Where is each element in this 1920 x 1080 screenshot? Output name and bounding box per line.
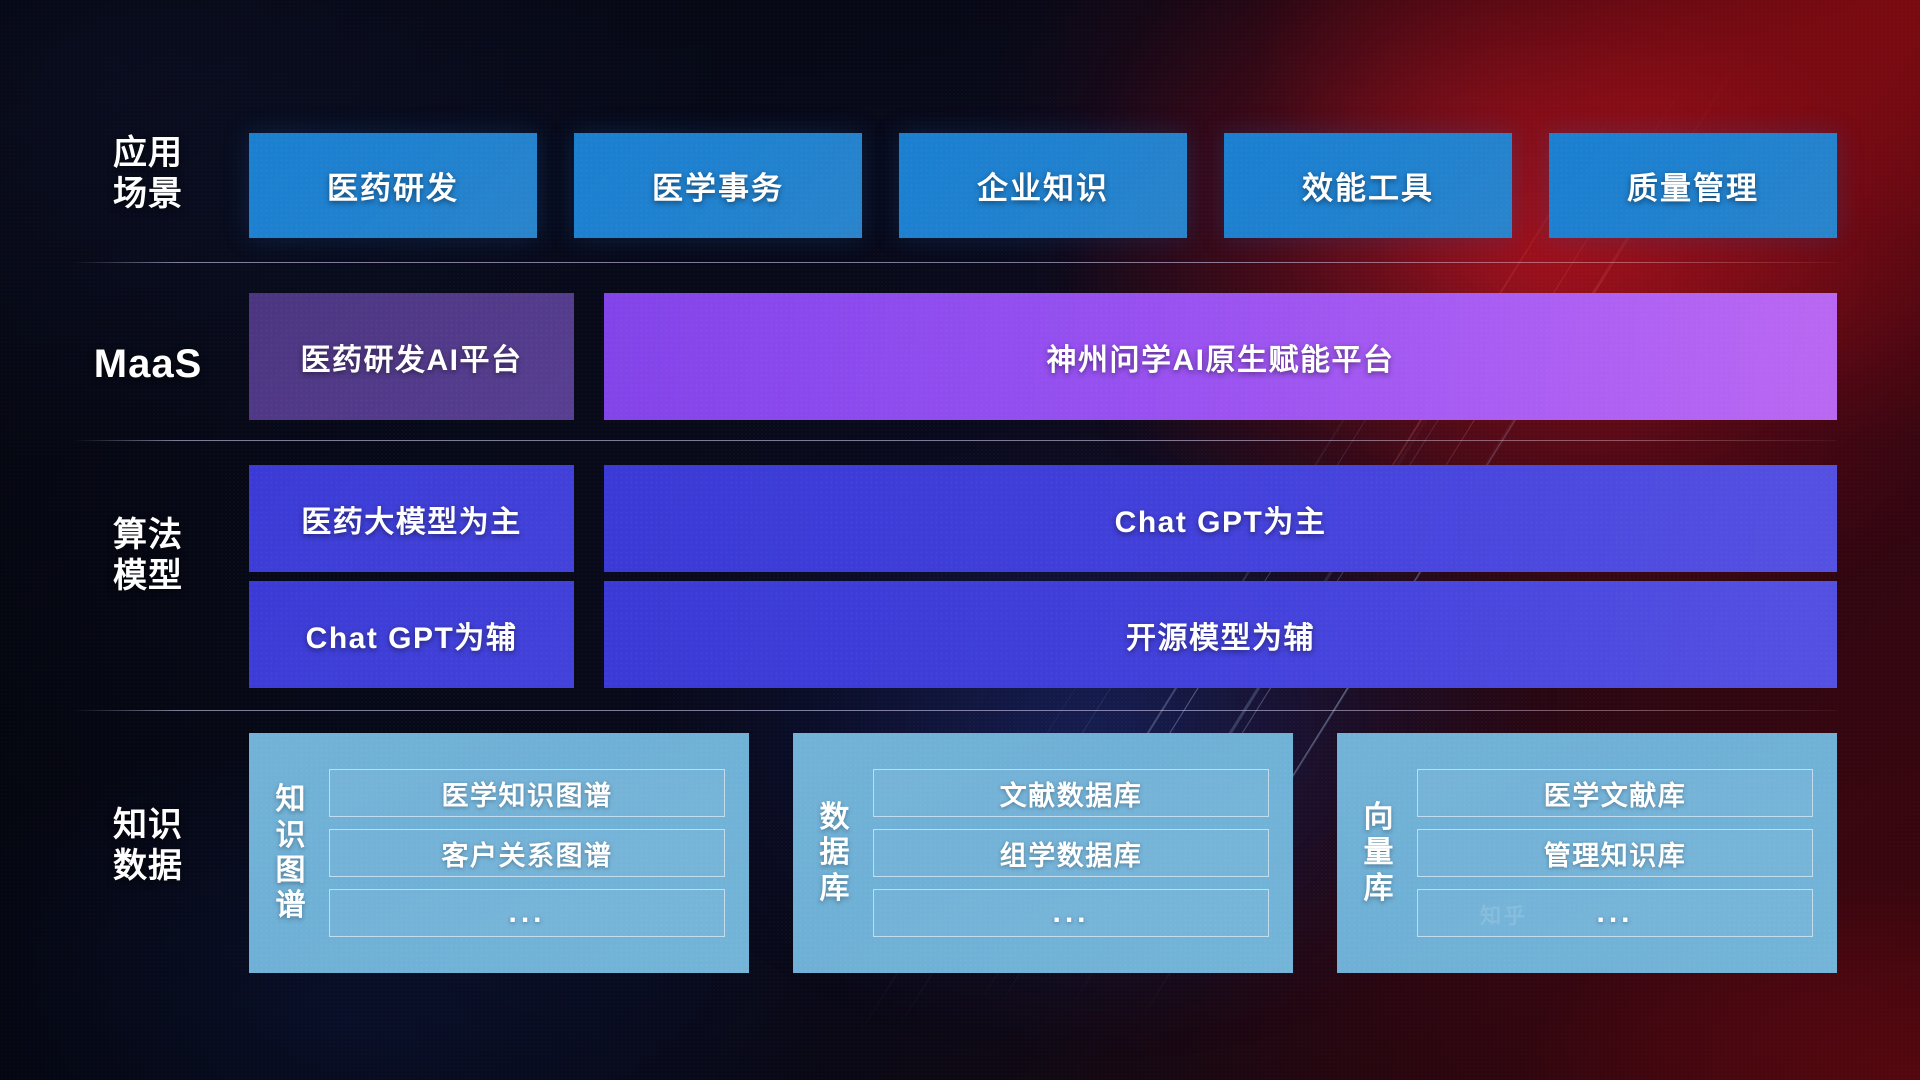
algorithm-box-chatgpt-primary[interactable]: Chat GPT为主 (604, 465, 1837, 572)
app-scenario-box-5[interactable]: 质量管理 (1549, 133, 1837, 238)
knowledge-panel-items-vector-store: 医学文献库 管理知识库 ... (1417, 769, 1813, 937)
app-scenario-box-2[interactable]: 医学事务 (574, 133, 862, 238)
divider-3 (72, 710, 1837, 711)
knowledge-chip-2-1[interactable]: 文献数据库 (873, 769, 1269, 817)
knowledge-chip-label-1-1: 医学知识图谱 (442, 774, 613, 813)
knowledge-panel-knowledge-graph[interactable]: 知 识 图 谱 医学知识图谱 客户关系图谱 ... (249, 733, 749, 973)
algorithm-box-opensource-secondary[interactable]: 开源模型为辅 (604, 581, 1837, 688)
divider-2 (72, 440, 1837, 441)
maas-box-shenzhou-platform[interactable]: 神州问学AI原生赋能平台 (604, 293, 1837, 420)
maas-label-medical-ai-platform: 医药研发AI平台 (301, 335, 523, 379)
row-label-algorithm-model: 算法 模型 (72, 515, 224, 598)
maas-label-shenzhou-platform: 神州问学AI原生赋能平台 (1047, 335, 1395, 379)
app-scenario-box-1[interactable]: 医药研发 (249, 133, 537, 238)
row-label-application-scenario: 应用 场景 (72, 133, 224, 216)
knowledge-chip-2-2[interactable]: 组学数据库 (873, 829, 1269, 877)
knowledge-chip-3-3[interactable]: ... (1417, 889, 1813, 937)
knowledge-chip-label-1-2: 客户关系图谱 (442, 834, 613, 873)
algorithm-label-medical-model-primary: 医药大模型为主 (301, 497, 522, 541)
knowledge-chip-1-3[interactable]: ... (329, 889, 725, 937)
app-scenario-box-4[interactable]: 效能工具 (1224, 133, 1512, 238)
app-scenario-label-2: 医学事务 (652, 163, 784, 208)
row-label-maas: MaaS (72, 340, 224, 389)
algorithm-label-opensource-secondary: 开源模型为辅 (1126, 613, 1315, 657)
knowledge-chip-label-2-2: 组学数据库 (1000, 834, 1143, 873)
app-scenario-label-5: 质量管理 (1627, 163, 1759, 208)
app-scenario-label-1: 医药研发 (327, 163, 459, 208)
knowledge-chip-label-2-3: ... (1052, 896, 1089, 930)
knowledge-panel-items-knowledge-graph: 医学知识图谱 客户关系图谱 ... (329, 769, 725, 937)
algorithm-box-chatgpt-secondary[interactable]: Chat GPT为辅 (249, 581, 574, 688)
knowledge-panel-database[interactable]: 数 据 库 文献数据库 组学数据库 ... (793, 733, 1293, 973)
knowledge-chip-label-2-1: 文献数据库 (1000, 774, 1143, 813)
knowledge-chip-2-3[interactable]: ... (873, 889, 1269, 937)
app-scenario-label-4: 效能工具 (1302, 163, 1434, 208)
knowledge-chip-3-2[interactable]: 管理知识库 (1417, 829, 1813, 877)
knowledge-panel-items-database: 文献数据库 组学数据库 ... (873, 769, 1269, 937)
knowledge-panel-title-knowledge-graph: 知 识 图 谱 (269, 782, 313, 924)
algorithm-label-chatgpt-secondary: Chat GPT为辅 (306, 613, 518, 657)
app-scenario-label-3: 企业知识 (977, 163, 1109, 208)
row-label-knowledge-data: 知识 数据 (72, 805, 224, 888)
knowledge-panel-vector-store[interactable]: 向 量 库 医学文献库 管理知识库 ... (1337, 733, 1837, 973)
knowledge-chip-label-3-1: 医学文献库 (1544, 774, 1687, 813)
knowledge-chip-1-2[interactable]: 客户关系图谱 (329, 829, 725, 877)
knowledge-panel-title-vector-store: 向 量 库 (1357, 800, 1401, 906)
knowledge-chip-label-1-3: ... (508, 896, 545, 930)
architecture-diagram: 应用 场景 医药研发 医学事务 企业知识 效能工具 质量管理 MaaS 医药研发… (0, 0, 1920, 1080)
knowledge-panel-title-database: 数 据 库 (813, 800, 857, 906)
maas-box-medical-ai-platform[interactable]: 医药研发AI平台 (249, 293, 574, 420)
knowledge-chip-1-1[interactable]: 医学知识图谱 (329, 769, 725, 817)
algorithm-label-chatgpt-primary: Chat GPT为主 (1115, 497, 1327, 541)
knowledge-chip-label-3-2: 管理知识库 (1544, 834, 1687, 873)
knowledge-chip-label-3-3: ... (1596, 896, 1633, 930)
app-scenario-box-3[interactable]: 企业知识 (899, 133, 1187, 238)
knowledge-chip-3-1[interactable]: 医学文献库 (1417, 769, 1813, 817)
algorithm-box-medical-model-primary[interactable]: 医药大模型为主 (249, 465, 574, 572)
divider-1 (72, 262, 1837, 263)
